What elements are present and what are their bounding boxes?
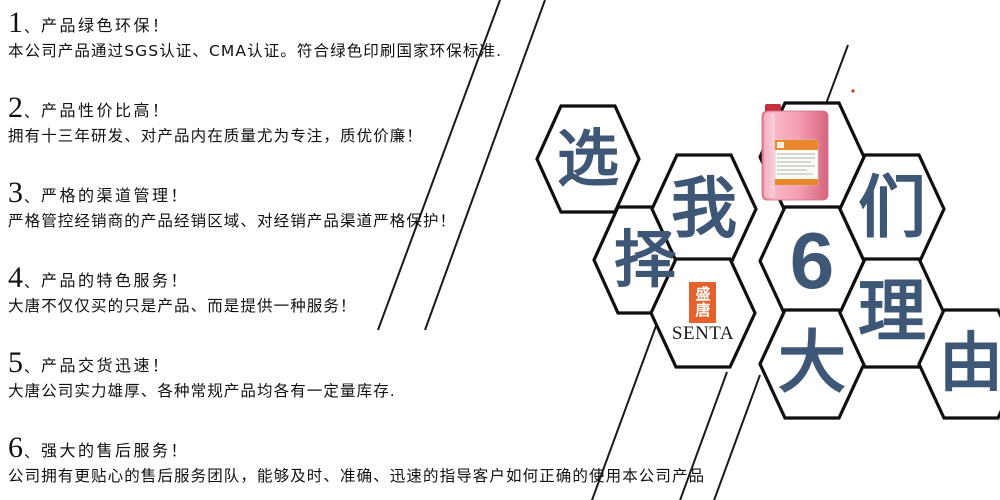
jerrycan-label-footer [775,179,818,185]
senta-brand-name: SENTA [672,324,734,344]
hex-label-da: 大 [778,330,846,398]
hex-label-wo: 我 [671,176,737,242]
senta-logo-stamp: 盛 唐 [689,282,716,323]
hex-label-ze: 择 [614,229,676,291]
hex-label-men: 们 [858,175,926,243]
senta-stamp-char-2: 唐 [695,302,710,318]
senta-stamp-char-1: 盛 [695,286,710,302]
hex-cell-you: 由 [916,307,1000,421]
hex-label-six: 6 [790,221,835,301]
hex-cell-men: 们 [837,152,947,266]
product-jerrycan-image [757,100,833,204]
hex-label-you: 由 [939,332,1000,396]
senta-logo: 盛 唐 SENTA [672,282,734,344]
honeycomb-graphic: 选 择 我 盛 唐 SENTA [0,0,1000,500]
hex-cell-xuan: 选 [534,103,642,215]
hex-label-li: 理 [858,279,926,347]
jerrycan-highlight [764,113,775,198]
hex-label-xuan: 选 [557,128,619,190]
jerrycan-label-mark [777,142,784,148]
promo-banner: 1 、 产品绿色环保！ 本公司产品通过SGS认证、CMA认证。符合绿色印刷国家环… [0,0,1000,500]
